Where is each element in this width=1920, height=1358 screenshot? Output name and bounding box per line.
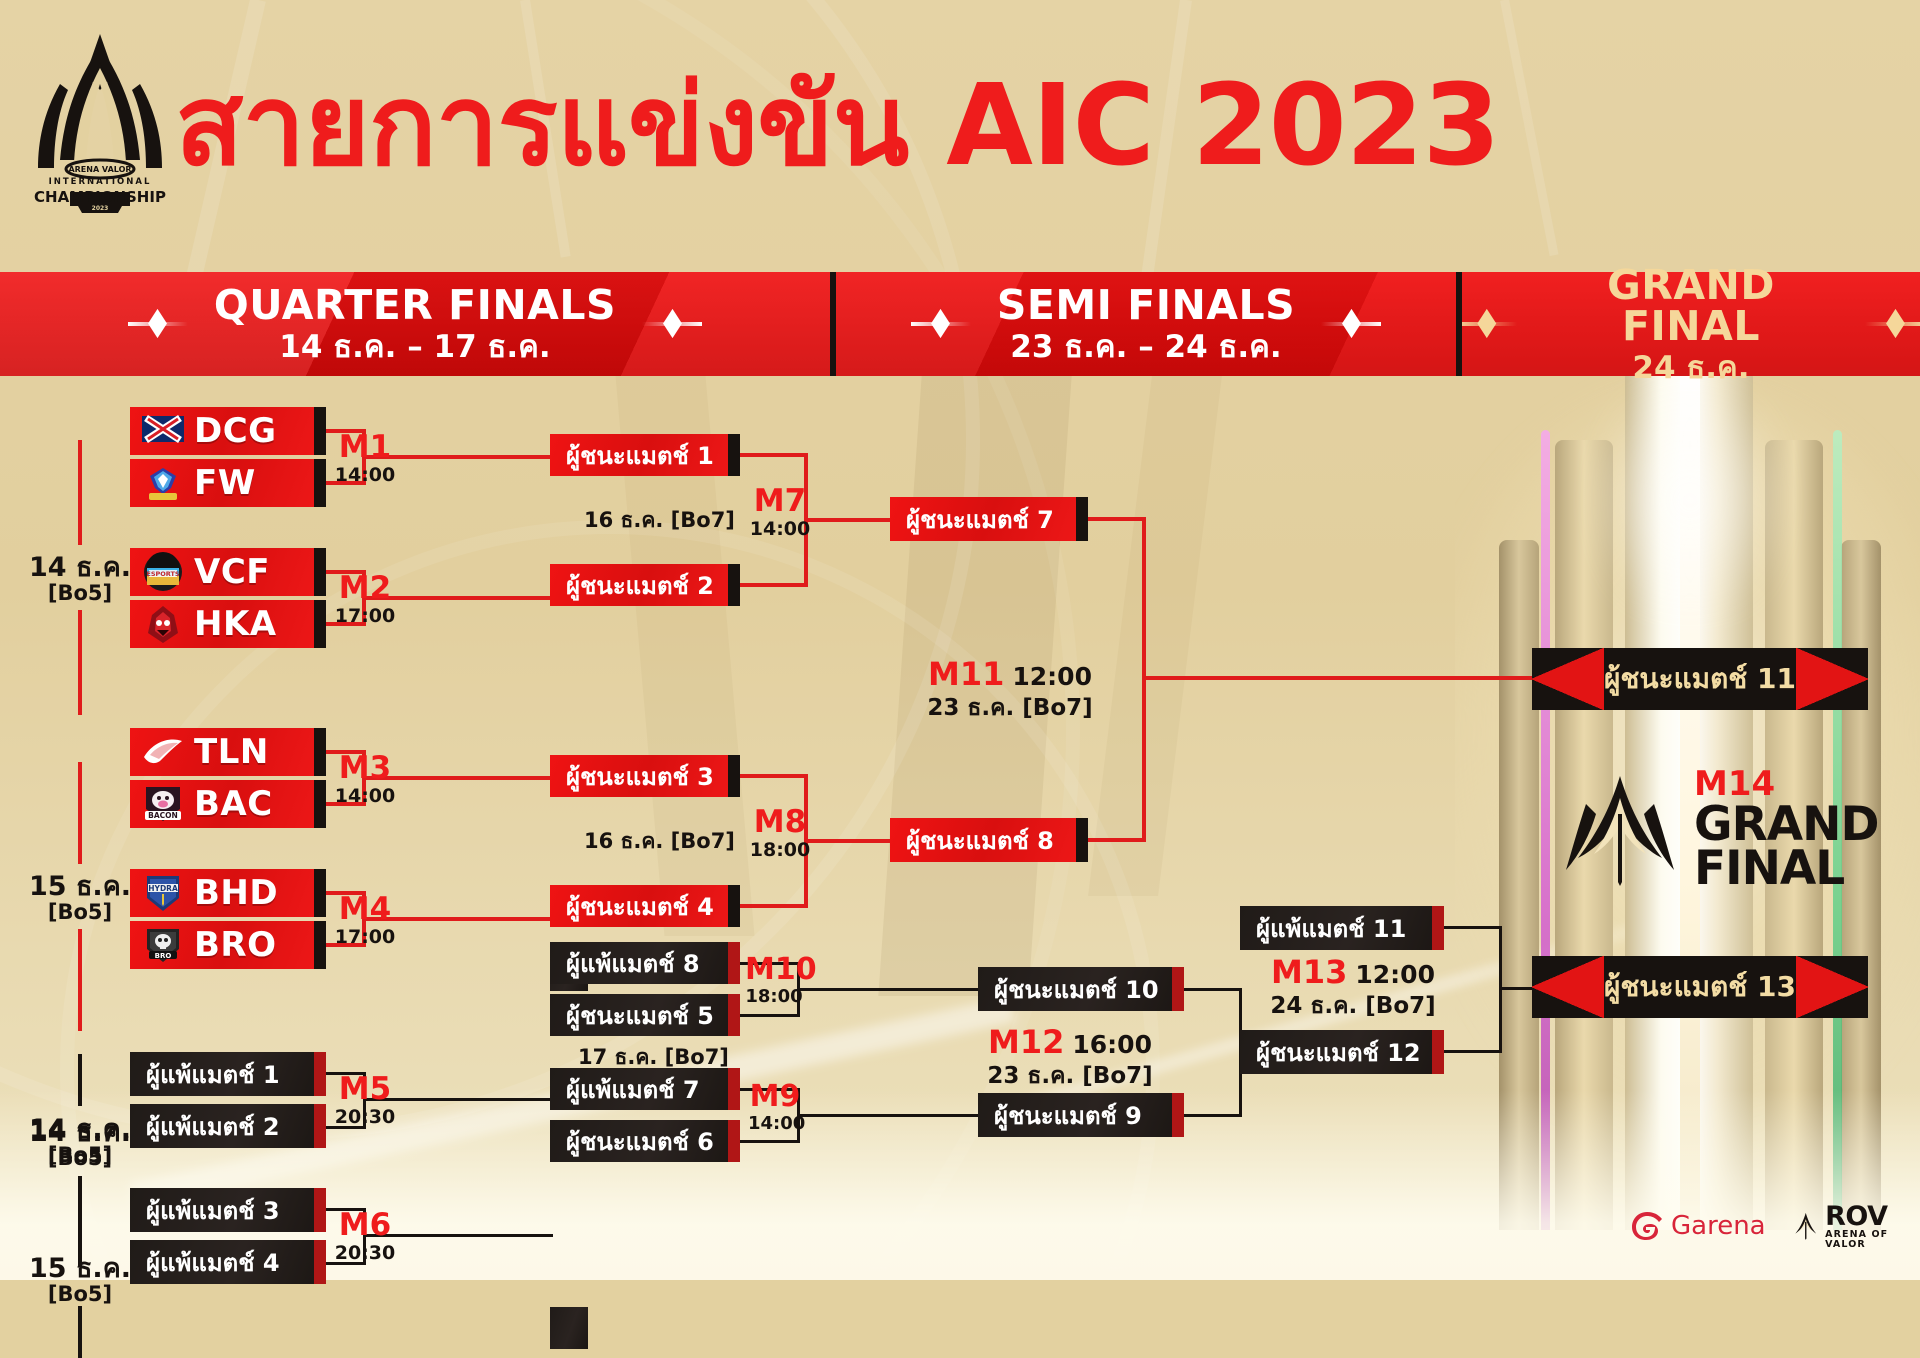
stage-header-band: QUARTER FINALS 14 ธ.ค. – 17 ธ.ค. SEMI FI… bbox=[0, 272, 1920, 376]
ornament-icon bbox=[1462, 313, 1517, 335]
match-tag-m3: M3 14:00 bbox=[320, 753, 410, 806]
info-round2-mid: 16 ธ.ค. [Bo7] bbox=[584, 825, 735, 858]
wing-ornament-icon bbox=[1532, 956, 1604, 1018]
row-tag bbox=[728, 1120, 740, 1162]
rov-name: ROV bbox=[1825, 1203, 1900, 1230]
slot-winner-match-9[interactable]: ผู้ชนะแมตช์ 9 bbox=[978, 1093, 1184, 1137]
stage-quarter-finals: QUARTER FINALS 14 ธ.ค. – 17 ธ.ค. bbox=[0, 272, 830, 376]
champion-slot-winner-match-13[interactable]: ผู้ชนะแมตช์ 13 bbox=[1532, 956, 1868, 1018]
slot-loser-match-11[interactable]: ผู้แพ้แมตช์ 11 bbox=[1240, 906, 1444, 950]
dcg-crest-icon bbox=[140, 410, 186, 452]
champion-slot-winner-match-11[interactable]: ผู้ชนะแมตช์ 11 bbox=[1532, 648, 1868, 710]
fw-crest-icon bbox=[140, 462, 186, 504]
rov-diamond-small-icon bbox=[1794, 1206, 1818, 1246]
info-round2-top: 16 ธ.ค. [Bo7] bbox=[584, 504, 735, 537]
team-abbr: VCF bbox=[194, 555, 270, 589]
svg-text:HYDRA: HYDRA bbox=[148, 884, 178, 893]
slot-winner-match-6[interactable]: ผู้ชนะแมตช์ 6 bbox=[550, 1120, 740, 1162]
team-abbr: FW bbox=[194, 466, 256, 500]
grand-final-line2: FINAL bbox=[1694, 847, 1879, 892]
match-block-m13: M1312:00 24 ธ.ค. [Bo7] bbox=[1238, 954, 1468, 1019]
team-row-bac[interactable]: BACON BAC bbox=[130, 780, 326, 828]
ornament-icon bbox=[911, 313, 971, 335]
ornament-icon bbox=[1321, 313, 1381, 335]
day-rail bbox=[78, 1054, 82, 1106]
ornament-icon bbox=[1865, 313, 1920, 335]
bracket-page: ARENA VALOR INTERNATIONAL CHAMPIONSHIP 2… bbox=[0, 0, 1920, 1280]
team-abbr: HKA bbox=[194, 607, 277, 641]
stage-dates: 24 ธ.ค. bbox=[1543, 353, 1838, 384]
bac-crest-icon: BACON bbox=[140, 783, 186, 825]
svg-text:ESPORTS: ESPORTS bbox=[146, 570, 180, 578]
slot-winner-match-3[interactable]: ผู้ชนะแมตช์ 3 bbox=[550, 755, 740, 797]
row-tag bbox=[728, 885, 740, 927]
rov-sub: ARENA OF VALOR bbox=[1825, 1230, 1900, 1249]
row-tag bbox=[1172, 967, 1184, 1011]
match-tag-m1: M1 14:00 bbox=[320, 432, 410, 485]
svg-text:ARENA VALOR: ARENA VALOR bbox=[68, 165, 131, 174]
svg-text:CHAMPIONSHIP: CHAMPIONSHIP bbox=[34, 188, 166, 206]
hka-crest-icon bbox=[140, 603, 186, 645]
svg-text:INTERNATIONAL: INTERNATIONAL bbox=[49, 177, 152, 187]
match-tag-m7: M7 14:00 bbox=[745, 486, 815, 539]
slot-winner-match-7[interactable]: ผู้ชนะแมตช์ 7 bbox=[890, 497, 1088, 541]
grand-final-text: M14 GRAND FINAL bbox=[1694, 768, 1879, 892]
team-row-fw[interactable]: FW bbox=[130, 459, 326, 507]
slot-winner-match-10[interactable]: ผู้ชนะแมตช์ 10 bbox=[978, 967, 1184, 1011]
slot-loser-match-4[interactable]: ผู้แพ้แมตช์ 4 bbox=[130, 1240, 326, 1284]
day-rail bbox=[78, 762, 82, 864]
team-row-bro[interactable]: BRO BRO bbox=[130, 921, 326, 969]
footer-logos: Garena ROV ARENA OF VALOR bbox=[1630, 1198, 1900, 1254]
wing-ornament-icon bbox=[1796, 956, 1868, 1018]
bhd-crest-icon: HYDRA bbox=[140, 872, 186, 914]
day-label-1: 14 ธ.ค. [Bo5] bbox=[10, 554, 150, 604]
slot-loser-match-1[interactable]: ผู้แพ้แมตช์ 1 bbox=[130, 1052, 326, 1096]
band-divider bbox=[830, 272, 836, 376]
slot-winner-match-8[interactable]: ผู้ชนะแมตช์ 8 bbox=[890, 818, 1088, 862]
stage-grand-final: GRAND FINAL 24 ธ.ค. bbox=[1462, 272, 1920, 376]
band-divider bbox=[1456, 272, 1462, 376]
vcf-crest-icon: ESPORTS bbox=[140, 551, 186, 593]
team-row-tln[interactable]: TLN bbox=[130, 728, 326, 776]
stage-name: SEMI FINALS bbox=[997, 285, 1295, 326]
match-tag-m9: M9 14:00 bbox=[748, 1082, 802, 1133]
slot-loser-match-3[interactable]: ผู้แพ้แมตช์ 3 bbox=[130, 1188, 326, 1232]
match-tag-m6: M6 20:30 bbox=[320, 1210, 410, 1263]
page-header: ARENA VALOR INTERNATIONAL CHAMPIONSHIP 2… bbox=[0, 0, 1920, 272]
row-tag bbox=[728, 994, 740, 1036]
match-block-m12: M1216:00 23 ธ.ค. [Bo7] bbox=[920, 1024, 1220, 1089]
bro-crest-icon: BRO bbox=[140, 924, 186, 966]
stage-dates: 14 ธ.ค. – 17 ธ.ค. bbox=[214, 332, 616, 363]
stage-name: GRAND FINAL bbox=[1543, 265, 1838, 347]
row-tag bbox=[728, 564, 740, 606]
row-tag bbox=[1076, 497, 1088, 541]
row-tag bbox=[1076, 818, 1088, 862]
slot-winner-match-2[interactable]: ผู้ชนะแมตช์ 2 bbox=[550, 564, 740, 606]
day-rail bbox=[78, 440, 82, 545]
team-row-vcf[interactable]: ESPORTS VCF bbox=[130, 548, 326, 596]
stage-dates: 23 ธ.ค. – 24 ธ.ค. bbox=[997, 332, 1295, 363]
ornament-icon bbox=[642, 313, 702, 335]
slot-loser-match-2[interactable]: ผู้แพ้แมตช์ 2 bbox=[130, 1104, 326, 1148]
day-label-lower-1: 14 ธ.ค. [Bo5] bbox=[10, 1119, 150, 1169]
row-tag bbox=[728, 942, 740, 984]
svg-text:BRO: BRO bbox=[155, 952, 172, 960]
match-tag-m5: M5 20:30 bbox=[320, 1074, 410, 1127]
day-rail bbox=[78, 929, 82, 1031]
day-rail bbox=[78, 1306, 82, 1358]
team-row-bhd[interactable]: HYDRA BHD bbox=[130, 869, 326, 917]
stage-name: QUARTER FINALS bbox=[214, 285, 616, 326]
match-tag-m4: M4 17:00 bbox=[320, 894, 410, 947]
slot-winner-match-1[interactable]: ผู้ชนะแมตช์ 1 bbox=[550, 434, 740, 476]
wing-ornament-icon bbox=[1796, 648, 1868, 710]
svg-text:2023: 2023 bbox=[92, 205, 109, 212]
slot-winner-match-5[interactable]: ผู้ชนะแมตช์ 5 bbox=[550, 994, 740, 1036]
slot-loser-match-8[interactable]: ผู้แพ้แมตช์ 8 bbox=[550, 942, 740, 984]
team-abbr: DCG bbox=[194, 414, 277, 448]
match-id-m14: M14 bbox=[1694, 768, 1879, 800]
row-tag bbox=[728, 1068, 740, 1110]
match-tag-m10: M10 18:00 bbox=[745, 955, 803, 1006]
wing-ornament-icon bbox=[1532, 648, 1604, 710]
rov-diamond-icon bbox=[1560, 774, 1680, 886]
svg-text:BACON: BACON bbox=[148, 811, 178, 820]
row-tag bbox=[1432, 1030, 1444, 1074]
slot-winner-match-4[interactable]: ผู้ชนะแมตช์ 4 bbox=[550, 885, 740, 927]
team-row-hka[interactable]: HKA bbox=[130, 600, 326, 648]
slot-winner-match-12[interactable]: ผู้ชนะแมตช์ 12 bbox=[1240, 1030, 1444, 1074]
day-label-2: 15 ธ.ค. [Bo5] bbox=[10, 873, 150, 923]
match-tag-m8: M8 18:00 bbox=[745, 807, 815, 860]
row-tag bbox=[1432, 906, 1444, 950]
ornament-icon bbox=[128, 313, 188, 335]
tln-crest-icon bbox=[140, 731, 186, 773]
grand-final-block: M14 GRAND FINAL bbox=[1560, 770, 1890, 890]
garena-icon bbox=[1630, 1210, 1664, 1242]
day-rail bbox=[78, 610, 82, 715]
match-tag-m2: M2 17:00 bbox=[320, 573, 410, 626]
rov-logo: ROV ARENA OF VALOR bbox=[1794, 1203, 1900, 1249]
team-abbr: TLN bbox=[194, 735, 269, 769]
team-abbr: BHD bbox=[194, 876, 278, 910]
day-label-lower-2: 15 ธ.ค. [Bo5] bbox=[10, 1255, 150, 1305]
team-row-dcg[interactable]: DCG bbox=[130, 407, 326, 455]
stage-semi-finals: SEMI FINALS 23 ธ.ค. – 24 ธ.ค. bbox=[836, 272, 1456, 376]
slot-loser-match-7[interactable]: ผู้แพ้แมตช์ 7 bbox=[550, 1068, 740, 1110]
aic-logo-icon: ARENA VALOR INTERNATIONAL CHAMPIONSHIP 2… bbox=[30, 28, 170, 213]
match-block-m11: M1112:00 23 ธ.ค. [Bo7] bbox=[880, 656, 1140, 721]
row-tag bbox=[1172, 1093, 1184, 1137]
row-tag bbox=[728, 434, 740, 476]
row-tag bbox=[728, 755, 740, 797]
team-abbr: BAC bbox=[194, 787, 273, 821]
team-abbr: BRO bbox=[194, 928, 277, 962]
garena-label: Garena bbox=[1671, 1211, 1766, 1241]
page-title: สายการแข่งขัน AIC 2023 bbox=[175, 56, 1875, 196]
garena-logo: Garena bbox=[1630, 1210, 1766, 1242]
